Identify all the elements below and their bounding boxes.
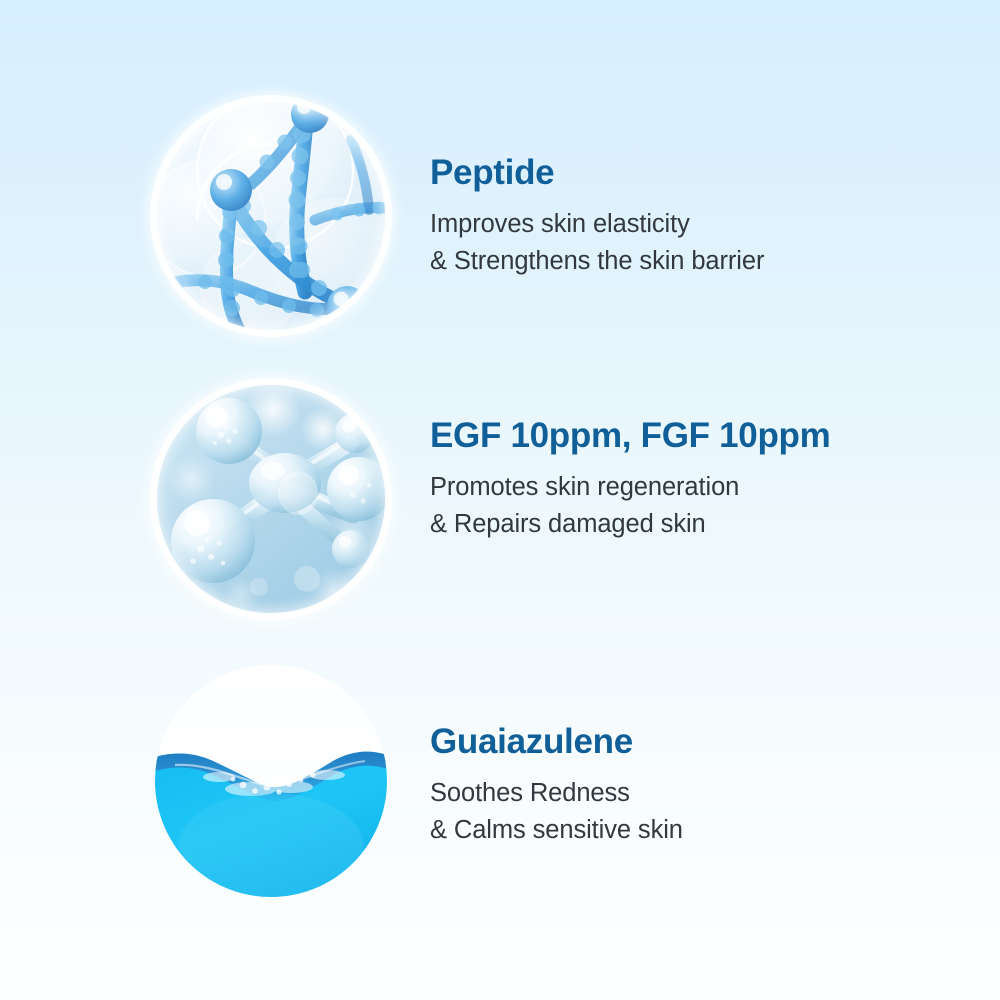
molecule-image xyxy=(155,383,387,615)
description-line: & Calms sensitive skin xyxy=(430,812,975,849)
description-line: Promotes skin regeneration xyxy=(430,469,975,506)
peptide-copy: Peptide Improves skin elasticity & Stren… xyxy=(430,152,975,280)
ingredient-heading: Peptide xyxy=(430,152,975,194)
ingredient-heading: Guaiazulene xyxy=(430,721,975,763)
description-line: & Strengthens the skin barrier xyxy=(430,243,975,280)
ingredient-infographic: Peptide Improves skin elasticity & Stren… xyxy=(0,0,1000,1000)
ingredient-heading: EGF 10ppm, FGF 10ppm xyxy=(430,415,975,457)
ingredient-description: Improves skin elasticity & Strengthens t… xyxy=(430,206,975,280)
ingredient-description: Promotes skin regeneration & Repairs dam… xyxy=(430,469,975,543)
description-line: & Repairs damaged skin xyxy=(430,506,975,543)
ingredient-row-peptide: Peptide Improves skin elasticity & Stren… xyxy=(0,100,1000,340)
description-line: Soothes Redness xyxy=(430,775,975,812)
egf-fgf-copy: EGF 10ppm, FGF 10ppm Promotes skin regen… xyxy=(430,415,975,543)
ingredient-row-guaiazulene: Guaiazulene Soothes Redness & Calms sens… xyxy=(0,665,1000,905)
ingredient-row-egf-fgf: EGF 10ppm, FGF 10ppm Promotes skin regen… xyxy=(0,383,1000,623)
peptide-chain-image xyxy=(155,100,387,332)
description-line: Improves skin elasticity xyxy=(430,206,975,243)
guaiazulene-copy: Guaiazulene Soothes Redness & Calms sens… xyxy=(430,721,975,849)
water-wave-image xyxy=(155,665,387,897)
ingredient-description: Soothes Redness & Calms sensitive skin xyxy=(430,775,975,849)
